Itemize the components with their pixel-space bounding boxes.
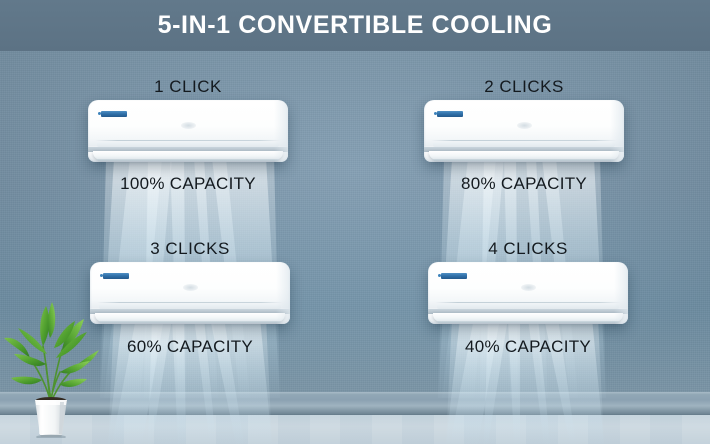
ac-unit-4[interactable] (428, 262, 628, 324)
capacity-label-unit-4: 40% CAPACITY (418, 337, 638, 357)
ac-louver-lip (97, 159, 279, 161)
potted-plant (2, 288, 102, 438)
page-title: 5-IN-1 CONVERTIBLE COOLING (158, 11, 553, 40)
ac-louver-lip (437, 321, 619, 323)
ac-seam (97, 302, 283, 303)
ac-louver-lip (433, 159, 615, 161)
ac-seam (431, 140, 617, 141)
ac-unit-2[interactable] (424, 100, 624, 162)
click-label-unit-3: 3 CLICKS (90, 239, 290, 259)
header-bar: 5-IN-1 CONVERTIBLE COOLING (0, 0, 710, 51)
ac-center-emblem-icon (517, 122, 532, 129)
click-label-unit-1: 1 CLICK (88, 77, 288, 97)
ac-louver-lip (99, 321, 281, 323)
brand-logo-badge (437, 111, 463, 117)
ac-unit-3[interactable] (90, 262, 290, 324)
ac-right-cap (276, 262, 290, 324)
click-label-unit-4: 4 CLICKS (428, 239, 628, 259)
capacity-label-unit-1: 100% CAPACITY (78, 174, 298, 194)
floor-reflection (0, 415, 710, 444)
ac-center-emblem-icon (521, 284, 536, 291)
brand-logo-badge (101, 111, 127, 117)
baseboard (0, 392, 710, 415)
ac-right-cap (610, 100, 624, 162)
brand-logo-badge (441, 273, 467, 279)
ac-right-cap (274, 100, 288, 162)
ac-center-emblem-icon (181, 122, 196, 129)
ac-seam (95, 140, 281, 141)
ac-center-emblem-icon (183, 284, 198, 291)
ac-seam (435, 302, 621, 303)
click-label-unit-2: 2 CLICKS (424, 77, 624, 97)
baseboard-top-edge (0, 392, 710, 395)
ac-unit-1[interactable] (88, 100, 288, 162)
capacity-label-unit-2: 80% CAPACITY (414, 174, 634, 194)
ac-right-cap (614, 262, 628, 324)
brand-logo-badge (103, 273, 129, 279)
poster-root: 5-IN-1 CONVERTIBLE COOLING (0, 0, 710, 444)
capacity-label-unit-3: 60% CAPACITY (80, 337, 300, 357)
